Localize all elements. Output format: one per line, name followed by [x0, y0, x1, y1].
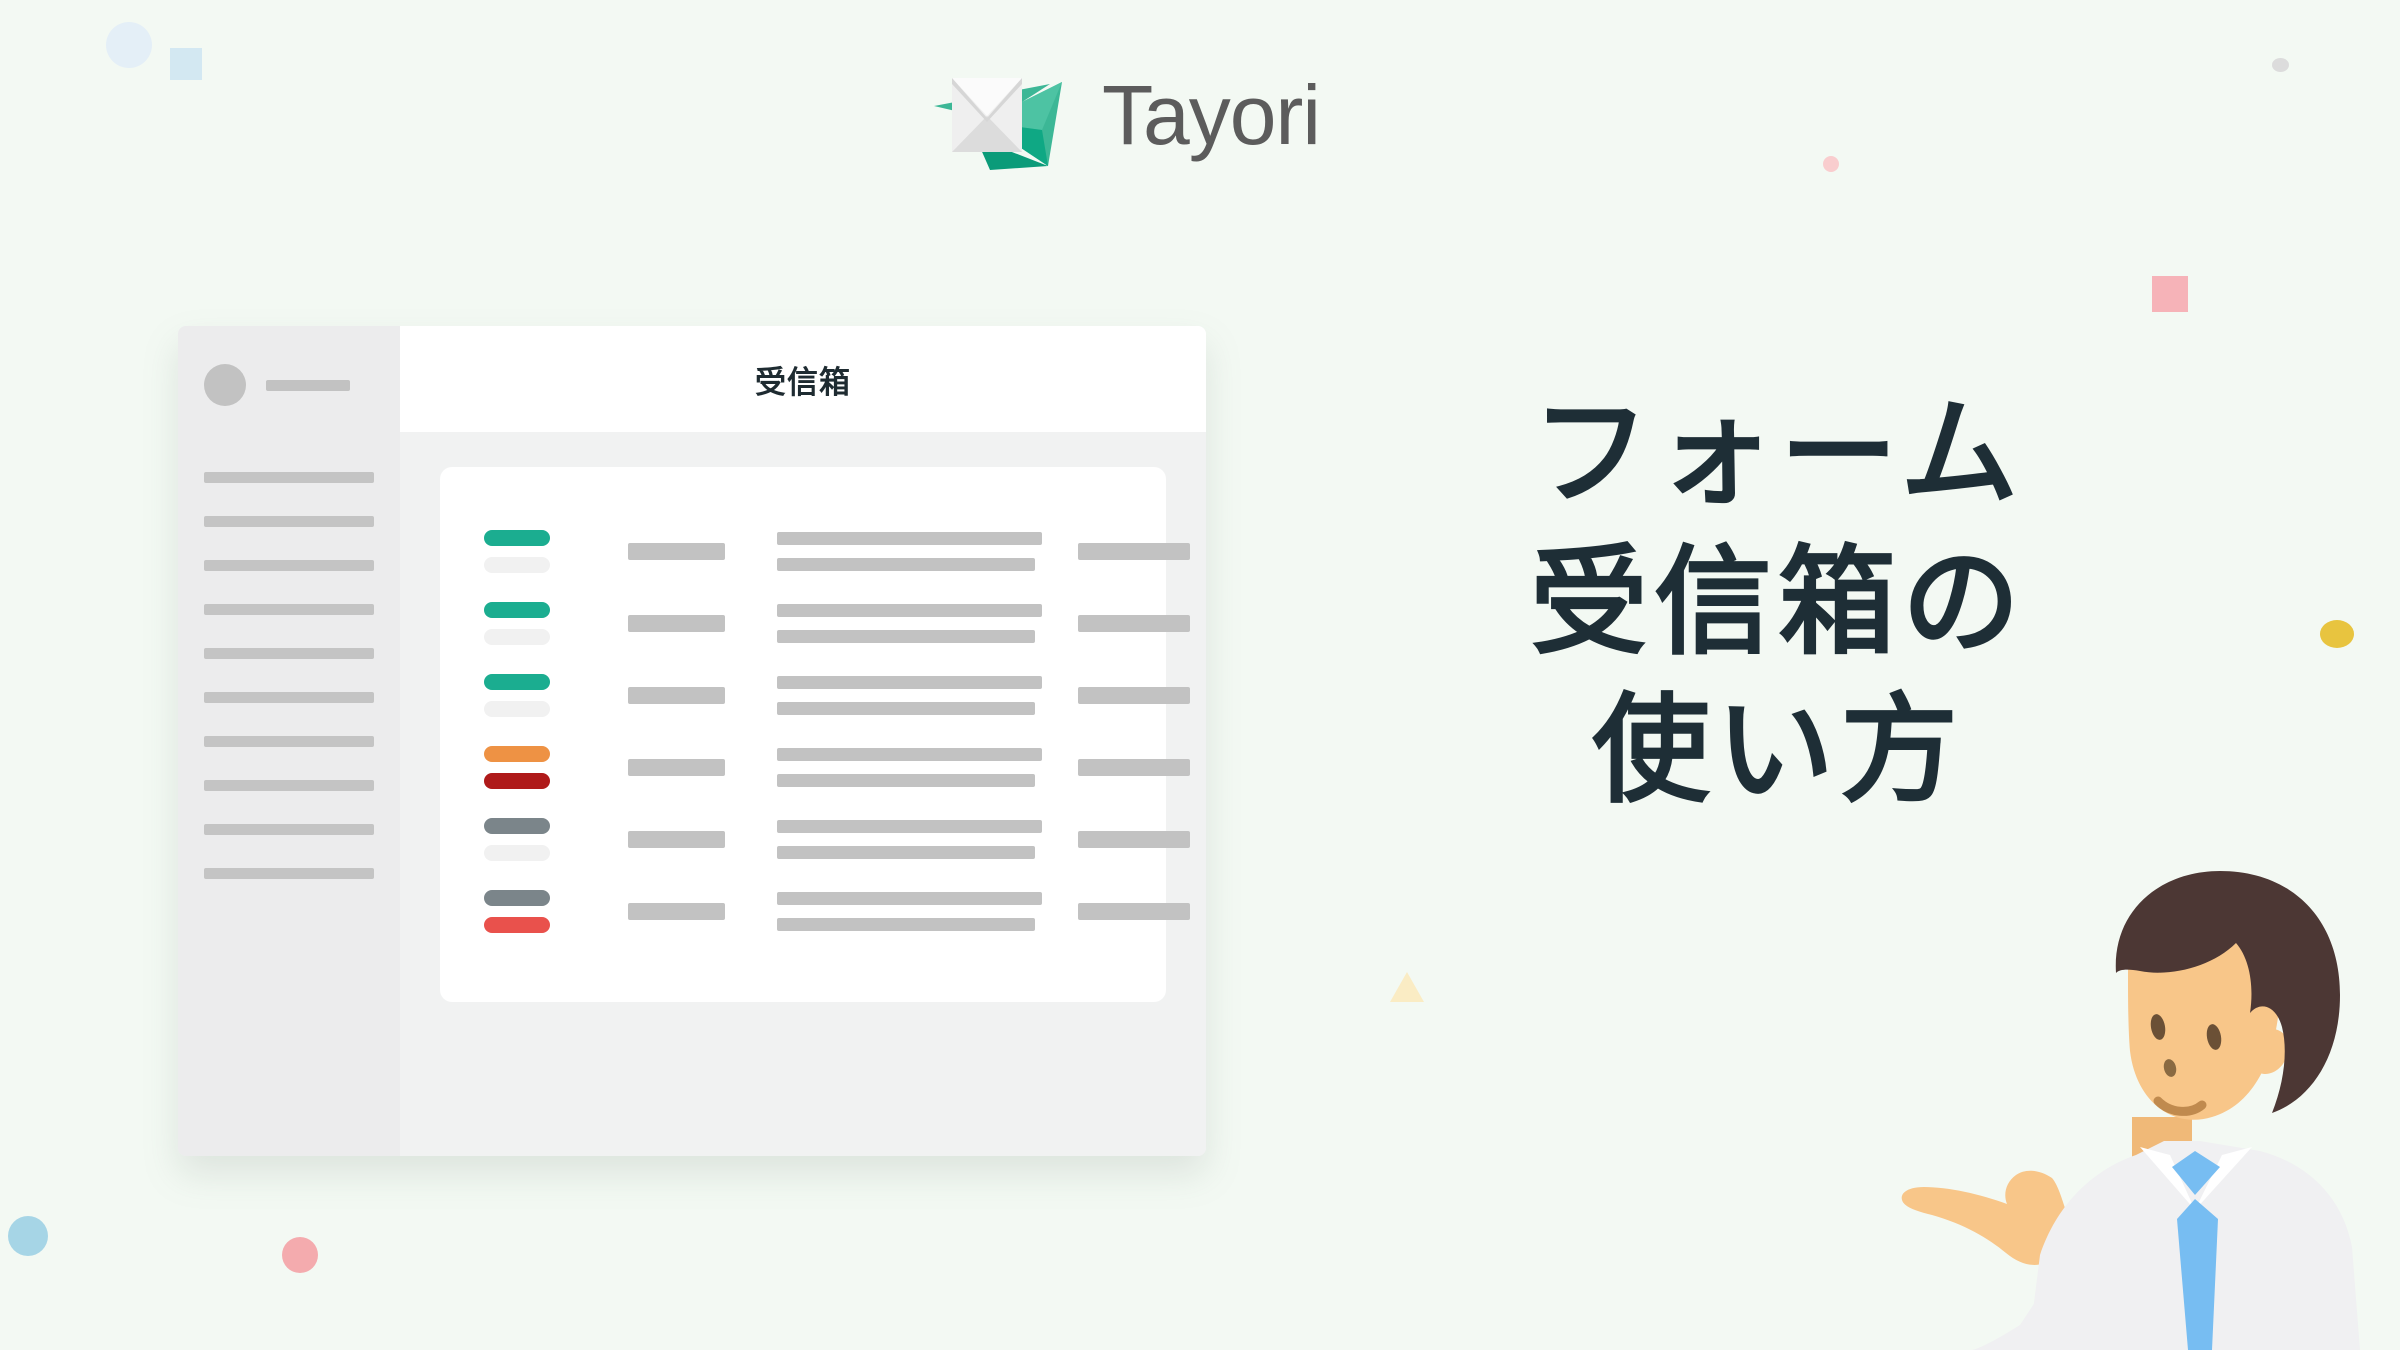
row-line-1	[777, 748, 1042, 761]
row-line-1	[777, 820, 1042, 833]
status-badge	[484, 530, 550, 546]
mockup-sidebar	[178, 326, 400, 1156]
sidebar-item-5[interactable]	[204, 648, 374, 659]
headline-line-2: 受信箱の	[1438, 529, 2118, 678]
status-badge	[484, 602, 550, 618]
row-status-badges	[484, 818, 590, 861]
row-line-1	[777, 532, 1042, 545]
decoration-dot-yellow-right	[2320, 620, 2354, 648]
app-mockup-window: 受信箱	[178, 326, 1206, 1156]
decoration-dot-pink-bottom-left	[282, 1237, 318, 1273]
status-badge-secondary	[484, 917, 550, 933]
status-badge	[484, 746, 550, 762]
status-badge-secondary	[484, 629, 550, 645]
row-date-placeholder	[628, 903, 725, 920]
headline: フォーム 受信箱の 使い方	[1438, 380, 2118, 826]
table-row[interactable]	[484, 515, 1122, 587]
table-row[interactable]	[484, 587, 1122, 659]
row-line-2	[777, 630, 1035, 643]
businessman-illustration	[1840, 855, 2400, 1350]
row-status-badges	[484, 530, 590, 573]
decoration-triangle-yellow	[1390, 972, 1424, 1002]
sidebar-item-10[interactable]	[204, 868, 374, 879]
table-row[interactable]	[484, 659, 1122, 731]
mockup-body	[400, 432, 1206, 1156]
table-row[interactable]	[484, 875, 1122, 947]
table-row[interactable]	[484, 803, 1122, 875]
row-content-placeholder	[777, 748, 1042, 787]
sidebar-item-6[interactable]	[204, 692, 374, 703]
status-badge-secondary	[484, 773, 550, 789]
decoration-dot-pink-top-right	[1823, 156, 1839, 172]
row-content-placeholder	[777, 676, 1042, 715]
brand-wordmark: Tayori	[1102, 73, 1320, 157]
sidebar-item-4[interactable]	[204, 604, 374, 615]
row-meta-placeholder	[1078, 759, 1190, 776]
row-date-placeholder	[628, 831, 725, 848]
row-content-placeholder	[777, 892, 1042, 931]
decoration-dot-gray-top-right	[2272, 58, 2289, 72]
status-badge-secondary	[484, 845, 550, 861]
decoration-dot-blue-bottom-left	[8, 1216, 48, 1256]
row-status-badges	[484, 746, 590, 789]
table-row[interactable]	[484, 731, 1122, 803]
row-line-2	[777, 846, 1035, 859]
envelope-paper-plane-icon	[930, 60, 1080, 170]
decoration-circle-blue-top-left	[106, 22, 152, 68]
sidebar-item-3[interactable]	[204, 560, 374, 571]
brand-logo: Tayori	[930, 60, 1320, 170]
inbox-list-card	[440, 467, 1166, 1002]
mockup-main: 受信箱	[400, 326, 1206, 1156]
row-meta-placeholder	[1078, 687, 1190, 704]
row-content-placeholder	[777, 532, 1042, 571]
status-badge	[484, 818, 550, 834]
row-status-badges	[484, 890, 590, 933]
row-line-2	[777, 918, 1035, 931]
status-badge-secondary	[484, 557, 550, 573]
row-meta-placeholder	[1078, 543, 1190, 560]
status-badge	[484, 890, 550, 906]
row-content-placeholder	[777, 604, 1042, 643]
row-status-badges	[484, 602, 590, 645]
row-meta-placeholder	[1078, 903, 1190, 920]
row-line-1	[777, 604, 1042, 617]
sidebar-user-block	[178, 364, 400, 406]
decoration-square-blue-top-left	[170, 48, 202, 80]
sidebar-item-2[interactable]	[204, 516, 374, 527]
row-date-placeholder	[628, 615, 725, 632]
row-date-placeholder	[628, 543, 725, 560]
headline-line-3: 使い方	[1438, 677, 2118, 826]
sidebar-item-8[interactable]	[204, 780, 374, 791]
mockup-header: 受信箱	[400, 326, 1206, 432]
sidebar-menu	[178, 472, 400, 879]
sidebar-user-name-placeholder	[266, 380, 350, 391]
avatar	[204, 364, 246, 406]
headline-line-1: フォーム	[1438, 380, 2118, 529]
row-content-placeholder	[777, 820, 1042, 859]
status-badge-secondary	[484, 701, 550, 717]
row-date-placeholder	[628, 759, 725, 776]
page-title: 受信箱	[755, 357, 851, 402]
sidebar-item-7[interactable]	[204, 736, 374, 747]
decoration-square-pink-right	[2152, 276, 2188, 312]
row-line-1	[777, 892, 1042, 905]
row-line-2	[777, 558, 1035, 571]
row-status-badges	[484, 674, 590, 717]
row-date-placeholder	[628, 687, 725, 704]
status-badge	[484, 674, 550, 690]
row-meta-placeholder	[1078, 831, 1190, 848]
row-line-2	[777, 774, 1035, 787]
row-line-1	[777, 676, 1042, 689]
sidebar-item-9[interactable]	[204, 824, 374, 835]
row-line-2	[777, 702, 1035, 715]
sidebar-item-1[interactable]	[204, 472, 374, 483]
row-meta-placeholder	[1078, 615, 1190, 632]
